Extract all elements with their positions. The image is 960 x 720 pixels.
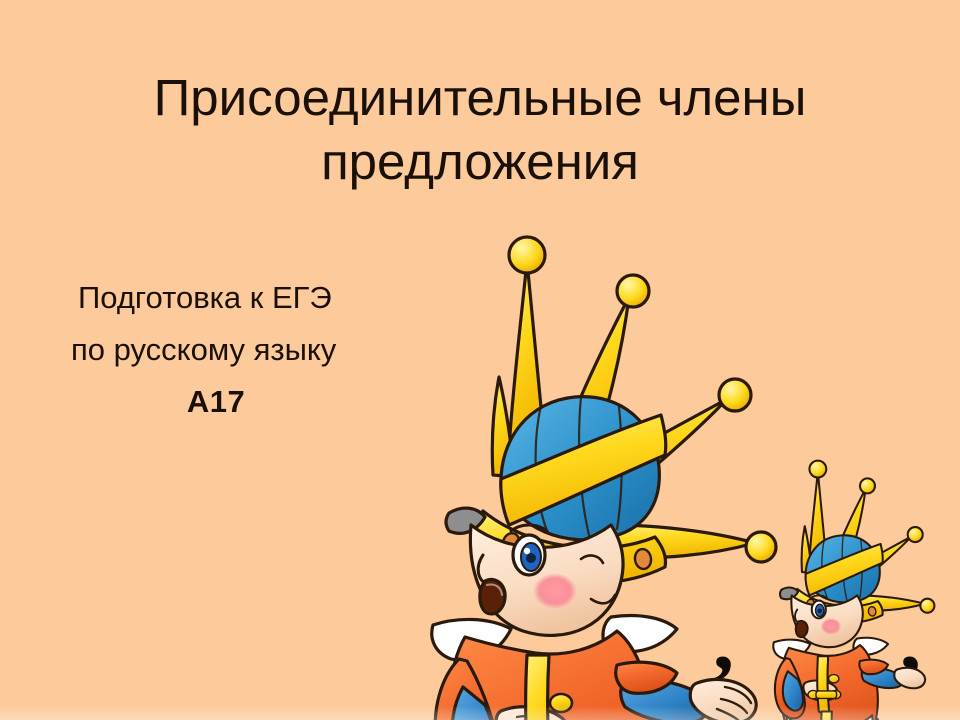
subtitle-line-preparation: Подготовка к ЕГЭ: [62, 272, 442, 324]
cartoon-king-small-icon: [745, 455, 945, 675]
cartoon-king-large-icon: [405, 225, 765, 695]
slide-title-line-2: предложения: [30, 130, 930, 194]
subtitle-line-task-code: А17: [62, 376, 442, 428]
slide-subtitle-block: Подготовка к ЕГЭ по русскому языку А17: [62, 272, 442, 428]
slide-title: Присоединительные члены предложения: [30, 66, 930, 194]
subtitle-line-subject: по русскому языку: [62, 324, 442, 376]
slide-title-line-1: Присоединительные члены: [30, 66, 930, 130]
presentation-slide: Присоединительные члены предложения Подг…: [0, 0, 960, 720]
